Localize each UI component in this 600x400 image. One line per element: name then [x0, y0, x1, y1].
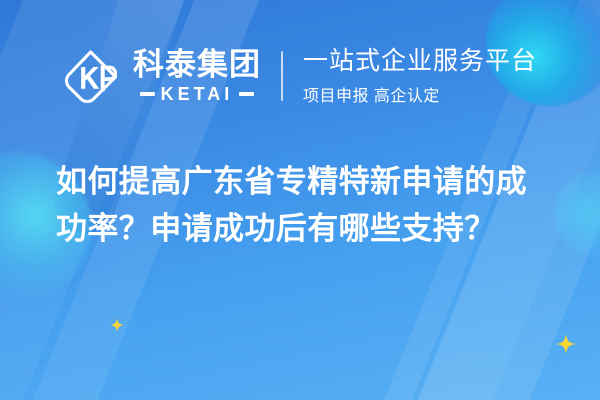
slogan-block: 一站式企业服务平台 项目申报 高企认定 [303, 47, 537, 106]
dash-icon [140, 92, 155, 96]
brand-name-cn: 科泰集团 [133, 49, 261, 80]
page-title: 如何提高广东省专精特新申请的成功率？申请成功后有哪些支持？ [56, 158, 556, 252]
decor-glow-right-mid [554, 168, 600, 258]
ketai-kp-diamond-icon [63, 47, 121, 105]
four-point-star-icon [110, 318, 124, 332]
slogan-sub: 项目申报 高企认定 [303, 82, 537, 106]
brand-name-en-row: KETAI [140, 85, 255, 103]
vertical-divider-icon [281, 51, 283, 101]
slogan-main: 一站式企业服务平台 [303, 47, 537, 75]
banner-header: 科泰集团 KETAI 一站式企业服务平台 项目申报 高企认定 [0, 38, 600, 114]
brand-logo: 科泰集团 KETAI [63, 47, 261, 105]
dash-icon [239, 92, 254, 96]
promo-banner: 科泰集团 KETAI 一站式企业服务平台 项目申报 高企认定 如何提高广东省专精… [0, 0, 600, 400]
brand-name-en: KETAI [161, 85, 234, 103]
brand-wordmark: 科泰集团 KETAI [133, 49, 261, 103]
four-point-star-icon [556, 334, 576, 354]
